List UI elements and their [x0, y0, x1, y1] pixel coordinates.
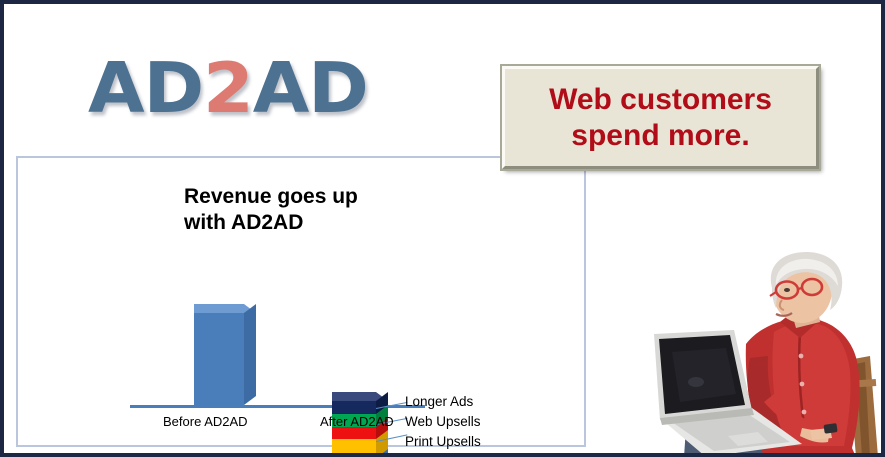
callout-box[interactable]: Web customers spend more.: [502, 66, 819, 169]
callout-line2: spend more.: [549, 118, 772, 153]
slide-canvas: AD2AD Revenue goes up with AD2AD: [0, 0, 885, 457]
category-label-after: After AD2AD: [320, 414, 394, 429]
bar-after-segment-more-ads[interactable]: [332, 438, 376, 457]
bar-before-base[interactable]: [194, 313, 244, 405]
chart-panel: Revenue goes up with AD2AD: [16, 156, 586, 447]
callout-line1: Web customers: [549, 82, 772, 117]
category-label-before: Before AD2AD: [163, 414, 248, 429]
legend-label-longer-ads: Longer Ads: [405, 394, 473, 409]
chart-plot-area: Longer Ads Web Upsells Print Upsells Mor…: [18, 158, 584, 445]
callout-text: Web customers spend more.: [549, 82, 772, 153]
logo-text-part1: AD: [88, 47, 203, 129]
bar-before-front-face: [194, 313, 244, 405]
woman-with-laptop-photo: [624, 252, 885, 457]
legend-label-print-upsells: Print Upsells: [405, 434, 481, 449]
logo-text-part3: AD: [253, 47, 368, 129]
logo-text-part2: 2: [203, 47, 253, 129]
woman-with-laptop-illustration: [624, 252, 885, 457]
segment-longer-ads-front-face: [332, 401, 376, 414]
bar-after-segment-longer-ads[interactable]: [332, 401, 376, 414]
legend-label-web-upsells: Web Upsells: [405, 414, 481, 429]
bar-before-side-face: [244, 304, 256, 405]
segment-more-ads-front-face: [332, 438, 376, 457]
ad2ad-logo: AD2AD: [88, 54, 368, 123]
leader-line-more-ads: [376, 453, 407, 457]
